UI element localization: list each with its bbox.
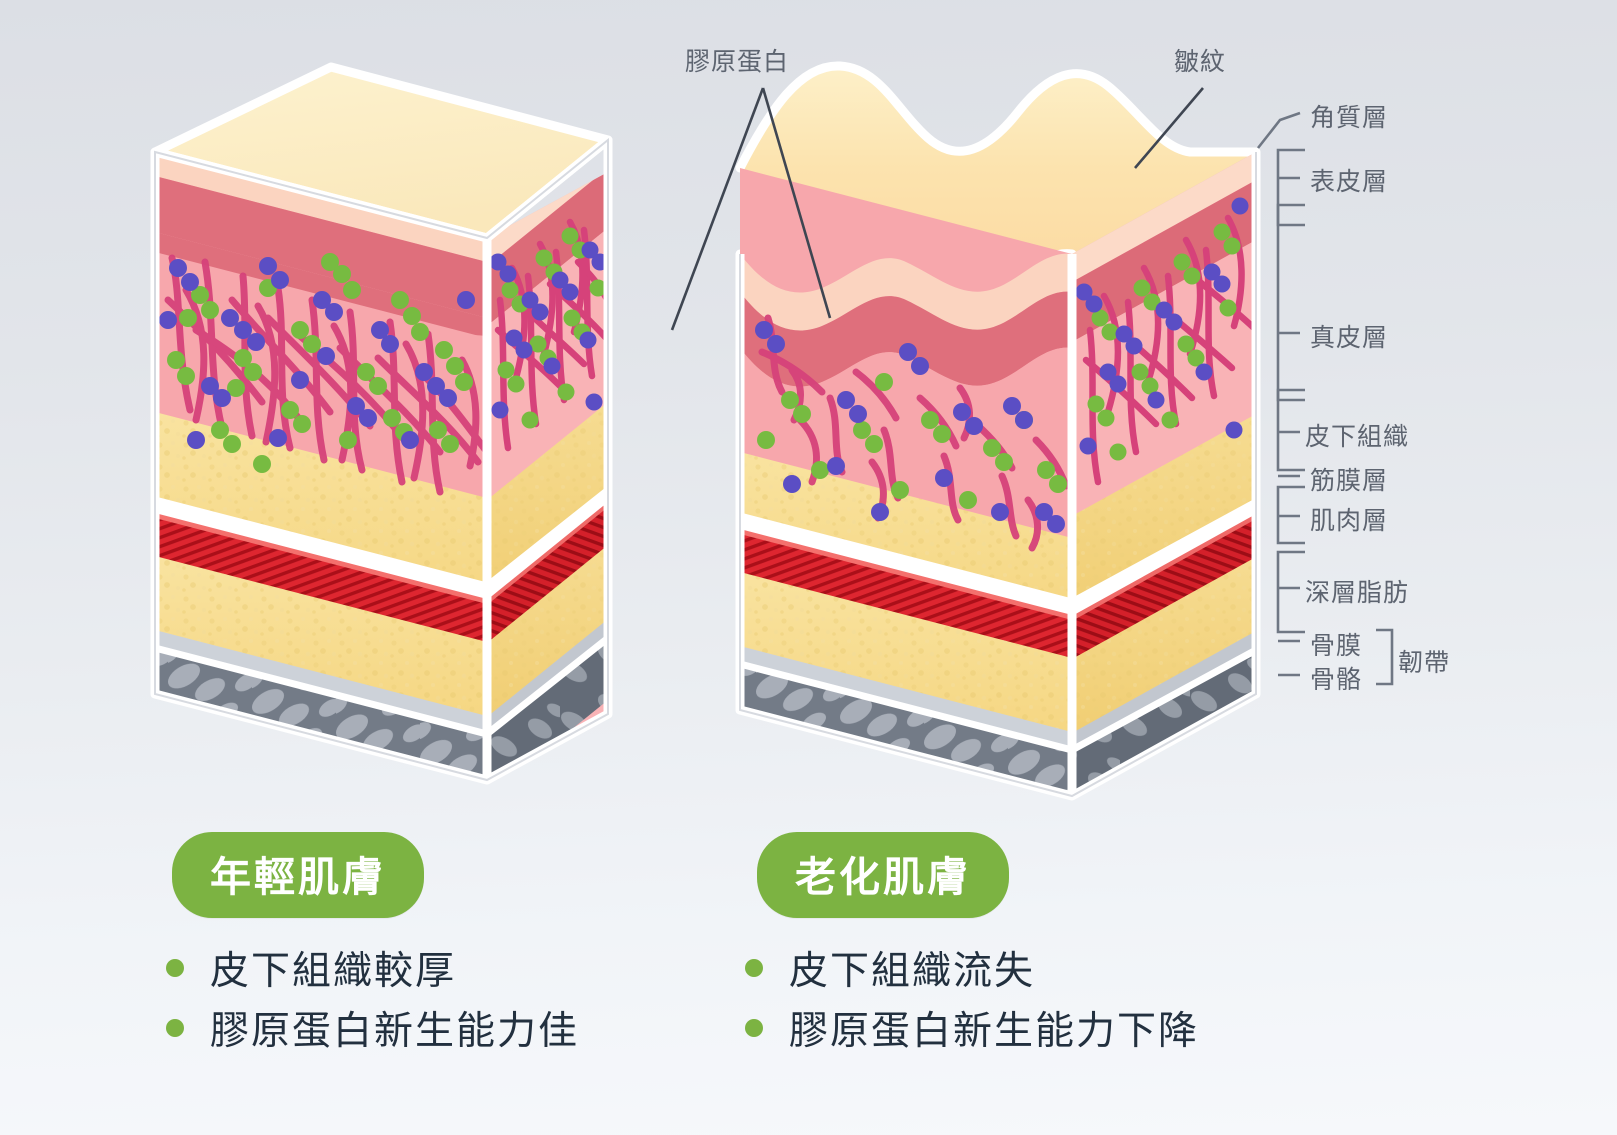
bracket-dermis (1278, 205, 1305, 400)
bracket-epidermis (1278, 150, 1305, 225)
bullet-text: 膠原蛋白新生能力佳 (210, 1000, 579, 1056)
bullet-text: 膠原蛋白新生能力下降 (789, 1000, 1199, 1056)
layer-label-ligament: 韌帶 (1398, 643, 1450, 679)
layer-label-dermis: 真皮層 (1310, 318, 1388, 354)
aging-skin-block (735, 66, 1265, 820)
layer-label-subcutaneous: 皮下組織 (1305, 417, 1409, 453)
bullet-aging-2: 膠原蛋白新生能力下降 (745, 1000, 1199, 1056)
bracket-deep-fat (1278, 552, 1305, 632)
bullet-young-1: 皮下組織較厚 (166, 940, 456, 996)
bullet-dot-icon (166, 959, 184, 977)
panel-badge-young-skin: 年輕肌膚 (172, 832, 424, 918)
layer-label-muscle: 肌肉層 (1310, 501, 1388, 537)
callout-label-collagen: 膠原蛋白 (685, 42, 789, 78)
bracket-ligament-group (1376, 630, 1392, 684)
layer-label-periosteum: 骨膜 (1310, 626, 1362, 662)
bullet-dot-icon (745, 1019, 763, 1037)
panel-badge-aging-skin: 老化肌膚 (757, 832, 1009, 918)
callout-label-wrinkle: 皺紋 (1174, 42, 1226, 78)
bullet-aging-1: 皮下組織流失 (745, 940, 1035, 996)
bullet-dot-icon (745, 959, 763, 977)
bracket-stratum-corneum (1258, 113, 1300, 148)
layer-label-epidermis: 表皮層 (1310, 162, 1388, 198)
diagram-canvas: 膠原蛋白 皺紋 角質層 表皮層 真皮層 皮下組織 筋膜層 肌肉層 深層脂肪 骨膜… (0, 0, 1617, 1135)
bullet-text: 皮下組織流失 (789, 940, 1035, 996)
young-skin-block (150, 67, 620, 800)
layer-label-fascia: 筋膜層 (1310, 461, 1388, 497)
bullet-text: 皮下組織較厚 (210, 940, 456, 996)
layer-label-stratum-corneum: 角質層 (1310, 98, 1388, 134)
bullet-dot-icon (166, 1019, 184, 1037)
layer-label-bone: 骨骼 (1310, 660, 1362, 696)
bullet-young-2: 膠原蛋白新生能力佳 (166, 1000, 579, 1056)
layer-label-deep-fat: 深層脂肪 (1305, 573, 1409, 609)
bracket-subcutaneous (1278, 390, 1305, 470)
